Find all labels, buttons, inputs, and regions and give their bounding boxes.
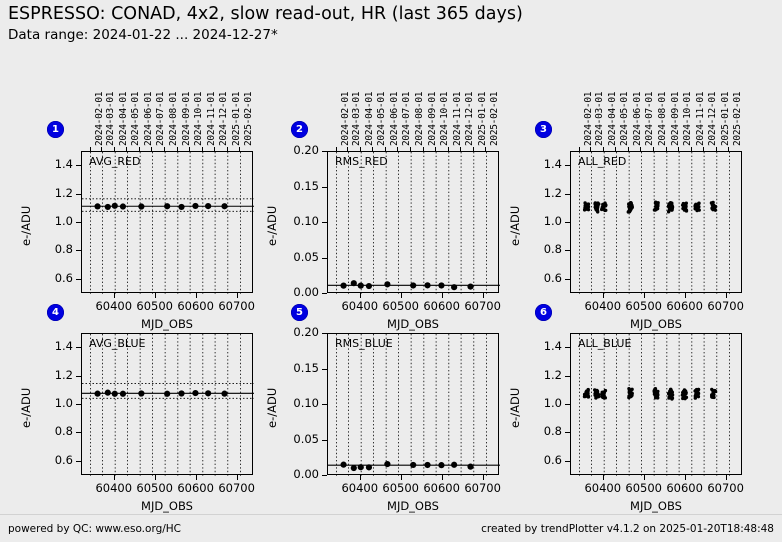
x-tick-mark: [237, 293, 238, 298]
plot-frame: ALL_BLUE: [570, 333, 742, 475]
x-tick-mark: [644, 293, 645, 298]
data-point: [628, 392, 631, 395]
x-tick-label: 60600: [412, 481, 472, 495]
date-tick-label: 2025-02-01: [489, 92, 500, 146]
data-point: [653, 208, 656, 211]
data-point: [670, 389, 673, 392]
data-point: [714, 390, 717, 393]
data-point: [711, 393, 714, 396]
panel-badge-1[interactable]: 1: [47, 121, 64, 138]
date-tick-mark: [423, 147, 424, 151]
data-point: [583, 204, 586, 207]
data-point: [712, 392, 715, 395]
x-tick-label: 60400: [84, 299, 144, 313]
data-point: [628, 391, 631, 394]
data-point: [586, 388, 589, 391]
data-point: [604, 389, 607, 392]
x-tick-mark: [360, 475, 361, 480]
data-point: [627, 387, 630, 390]
data-point: [596, 207, 599, 210]
data-point: [628, 389, 631, 392]
data-point: [711, 201, 714, 204]
data-point: [583, 393, 586, 396]
data-point: [695, 388, 698, 391]
data-point: [602, 393, 605, 396]
data-point: [631, 392, 634, 395]
x-axis-label: MJD_OBS: [327, 317, 499, 331]
data-point: [105, 390, 111, 396]
x-tick-label: 60500: [371, 299, 431, 313]
data-point: [594, 207, 597, 210]
data-point: [424, 462, 430, 468]
data-point: [630, 205, 633, 208]
data-point: [384, 281, 390, 287]
data-point: [684, 204, 687, 207]
y-tick-mark: [565, 432, 570, 433]
data-point: [653, 392, 656, 395]
x-tick-mark: [360, 293, 361, 298]
y-axis-label: e-/ADU: [19, 206, 33, 246]
data-point: [655, 206, 658, 209]
data-point: [670, 208, 673, 211]
date-tick-label: 2024-11-01: [695, 92, 706, 146]
data-point: [587, 208, 590, 211]
date-tick-mark: [202, 147, 203, 151]
y-tick-mark: [76, 279, 81, 280]
date-tick-label: 2024-04-01: [364, 92, 375, 146]
data-point: [685, 208, 688, 211]
data-point: [628, 210, 631, 213]
panel-badge-4[interactable]: 4: [47, 304, 64, 321]
date-tick-label: 2024-09-01: [427, 92, 438, 146]
data-point: [627, 205, 630, 208]
data-point: [596, 210, 599, 213]
y-tick-label: 0.05: [283, 250, 319, 264]
date-tick-mark: [666, 147, 667, 151]
data-point: [602, 390, 605, 393]
data-point: [712, 391, 715, 394]
data-point: [595, 205, 598, 208]
data-point: [629, 392, 632, 395]
data-point: [583, 208, 586, 211]
data-point: [697, 202, 700, 205]
y-tick-mark: [76, 404, 81, 405]
data-point: [366, 464, 372, 470]
data-point: [683, 389, 686, 392]
data-point: [654, 388, 657, 391]
data-point: [628, 207, 631, 210]
data-point: [601, 396, 604, 399]
data-point: [656, 394, 659, 397]
data-point: [594, 203, 597, 206]
data-point: [654, 201, 657, 204]
data-point: [712, 396, 715, 399]
data-point: [94, 203, 100, 209]
data-point: [594, 207, 597, 210]
footer-credit-right: created by trendPlotter v4.1.2 on 2025-0…: [481, 523, 774, 535]
date-tick-mark: [640, 147, 641, 151]
x-axis-label: MJD_OBS: [81, 317, 253, 331]
date-tick-label: 2024-10-01: [439, 92, 450, 146]
x-tick-label: 60500: [125, 481, 185, 495]
data-point: [597, 393, 600, 396]
data-point: [627, 394, 630, 397]
data-point: [695, 394, 698, 397]
date-tick-label: 2025-02-01: [732, 92, 743, 146]
data-point: [593, 202, 596, 205]
data-point: [595, 208, 598, 211]
data-point: [438, 282, 444, 288]
data-point: [714, 208, 717, 211]
x-tick-label: 60700: [696, 299, 756, 313]
plot-frame: ALL_RED: [570, 151, 742, 293]
data-point: [192, 203, 198, 209]
data-point: [629, 201, 632, 204]
data-point: [584, 203, 587, 206]
data-point: [351, 280, 357, 286]
y-tick-label: 1.0: [37, 214, 73, 228]
y-tick-label: 0.20: [283, 325, 319, 339]
data-point: [178, 390, 184, 396]
date-tick-label: 2025-02-01: [243, 92, 254, 146]
date-tick-mark: [615, 147, 616, 151]
date-tick-mark: [372, 147, 373, 151]
data-point: [221, 203, 227, 209]
date-tick-mark: [590, 147, 591, 151]
data-point: [668, 395, 671, 398]
x-tick-mark: [726, 293, 727, 298]
y-tick-label: 0.8: [37, 424, 73, 438]
y-tick-mark: [76, 250, 81, 251]
y-tick-label: 0.10: [283, 214, 319, 228]
x-tick-mark: [155, 293, 156, 298]
x-tick-label: 60500: [614, 481, 674, 495]
data-point: [654, 393, 657, 396]
plot-canvas: [328, 152, 500, 294]
data-point: [667, 210, 670, 213]
data-point: [596, 209, 599, 212]
data-point: [593, 388, 596, 391]
data-point: [601, 207, 604, 210]
data-point: [681, 207, 684, 210]
data-point: [358, 464, 364, 470]
data-point: [681, 203, 684, 206]
x-tick-label: 60400: [330, 299, 390, 313]
data-point: [120, 203, 126, 209]
data-point: [601, 203, 604, 206]
data-point: [351, 465, 357, 471]
y-tick-mark: [322, 404, 327, 405]
data-point: [629, 393, 632, 396]
data-point: [586, 391, 589, 394]
data-point: [683, 395, 686, 398]
data-point: [603, 390, 606, 393]
date-tick-label: 2025-01-01: [477, 92, 488, 146]
data-point: [694, 393, 697, 396]
data-point: [410, 282, 416, 288]
plot-series-label: AVG_RED: [89, 155, 140, 168]
y-tick-label: 1.4: [526, 157, 562, 171]
data-point: [712, 393, 715, 396]
data-point: [603, 202, 606, 205]
x-tick-mark: [685, 293, 686, 298]
x-tick-label: 60400: [573, 299, 633, 313]
data-point: [627, 203, 630, 206]
data-point: [656, 206, 659, 209]
data-point: [600, 208, 603, 211]
data-point: [586, 390, 589, 393]
date-tick-mark: [716, 147, 717, 151]
data-point: [656, 392, 659, 395]
data-point: [711, 203, 714, 206]
plot-panel-avg-red: 1AVG_RED0.60.81.01.21.460400605006060060…: [0, 0, 782, 542]
data-point: [628, 389, 631, 392]
data-point: [667, 204, 670, 207]
data-point: [604, 209, 607, 212]
data-point: [467, 284, 473, 290]
y-tick-label: 0.00: [283, 467, 319, 481]
data-point: [667, 202, 670, 205]
data-point: [630, 388, 633, 391]
data-point: [698, 208, 701, 211]
data-point: [593, 392, 596, 395]
data-point: [596, 394, 599, 397]
date-tick-label: 2024-10-01: [193, 92, 204, 146]
data-point: [667, 396, 670, 399]
date-tick-label: 2024-05-01: [130, 92, 141, 146]
data-point: [670, 397, 673, 400]
data-point: [694, 207, 697, 210]
data-point: [584, 204, 587, 207]
x-tick-mark: [155, 475, 156, 480]
data-point: [384, 461, 390, 467]
data-point: [696, 391, 699, 394]
data-point: [711, 206, 714, 209]
data-point: [654, 391, 657, 394]
date-tick-mark: [164, 147, 165, 151]
data-point: [710, 393, 713, 396]
y-tick-label: 0.00: [283, 285, 319, 299]
data-point: [596, 391, 599, 394]
data-point: [164, 203, 170, 209]
data-point: [683, 208, 686, 211]
date-tick-label: 2024-12-01: [464, 92, 475, 146]
y-axis-label: e-/ADU: [508, 388, 522, 428]
data-point: [594, 390, 597, 393]
data-point: [629, 395, 632, 398]
data-point: [669, 390, 672, 393]
x-tick-mark: [237, 475, 238, 480]
data-point: [594, 396, 597, 399]
plot-panel-rms-red: 2RMS_RED0.000.050.100.150.20604006050060…: [0, 0, 782, 542]
data-point: [595, 389, 598, 392]
x-tick-mark: [114, 475, 115, 480]
x-tick-mark: [196, 293, 197, 298]
data-point: [653, 391, 656, 394]
data-point: [694, 392, 697, 395]
data-point: [583, 393, 586, 396]
data-point: [654, 206, 657, 209]
data-point: [629, 204, 632, 207]
data-point: [628, 206, 631, 209]
data-point: [603, 204, 606, 207]
panel-badge-6[interactable]: 6: [535, 304, 552, 321]
y-tick-label: 0.8: [526, 424, 562, 438]
data-point: [682, 393, 685, 396]
y-tick-mark: [76, 376, 81, 377]
date-tick-mark: [336, 147, 337, 151]
date-tick-label: 2024-04-01: [607, 92, 618, 146]
data-point: [601, 206, 604, 209]
footer-divider: [0, 514, 782, 515]
x-tick-mark: [603, 475, 604, 480]
y-tick-mark: [565, 222, 570, 223]
x-tick-label: 60400: [84, 481, 144, 495]
data-point: [601, 394, 604, 397]
panel-badge-3[interactable]: 3: [535, 121, 552, 138]
data-point: [596, 389, 599, 392]
data-point: [629, 392, 632, 395]
data-point: [671, 391, 674, 394]
data-point: [693, 204, 696, 207]
y-tick-label: 1.2: [37, 186, 73, 200]
date-tick-mark: [101, 147, 102, 151]
data-point: [586, 203, 589, 206]
date-tick-label: 2024-07-01: [155, 92, 166, 146]
date-tick-label: 2024-03-01: [105, 92, 116, 146]
data-point: [711, 203, 714, 206]
x-tick-label: 60700: [207, 481, 267, 495]
y-tick-mark: [76, 222, 81, 223]
x-tick-label: 60400: [330, 481, 390, 495]
data-point: [602, 390, 605, 393]
y-tick-label: 1.0: [37, 396, 73, 410]
data-point: [600, 395, 603, 398]
x-tick-label: 60400: [573, 481, 633, 495]
data-point: [669, 388, 672, 391]
data-point: [192, 390, 198, 396]
date-tick-label: 2024-05-01: [376, 92, 387, 146]
data-point: [205, 390, 211, 396]
data-point: [684, 208, 687, 211]
data-point: [693, 389, 696, 392]
data-point: [670, 393, 673, 396]
date-tick-mark: [653, 147, 654, 151]
page-title: ESPRESSO: CONAD, 4x2, slow read-out, HR …: [8, 4, 523, 24]
data-point: [655, 205, 658, 208]
data-point: [628, 395, 631, 398]
data-point: [587, 202, 590, 205]
data-point: [697, 388, 700, 391]
date-tick-mark: [728, 147, 729, 151]
data-point: [710, 201, 713, 204]
data-point: [120, 391, 126, 397]
data-point: [697, 395, 700, 398]
data-point: [696, 394, 699, 397]
data-point: [584, 395, 587, 398]
date-tick-mark: [227, 147, 228, 151]
data-point: [669, 204, 672, 207]
data-point: [695, 394, 698, 397]
data-point: [710, 394, 713, 397]
x-tick-label: 60700: [453, 481, 513, 495]
data-point: [654, 208, 657, 211]
data-point: [138, 390, 144, 396]
data-point: [630, 206, 633, 209]
data-point: [597, 395, 600, 398]
data-point: [628, 389, 631, 392]
data-point: [710, 388, 713, 391]
panel-badge-2[interactable]: 2: [291, 121, 308, 138]
data-point: [597, 202, 600, 205]
data-point: [205, 203, 211, 209]
panel-badge-5[interactable]: 5: [291, 304, 308, 321]
x-tick-mark: [442, 475, 443, 480]
date-tick-label: 2024-08-01: [414, 92, 425, 146]
data-point: [601, 205, 604, 208]
data-point: [656, 390, 659, 393]
date-tick-label: 2024-03-01: [351, 92, 362, 146]
data-point: [684, 391, 687, 394]
data-point: [164, 391, 170, 397]
data-point: [596, 206, 599, 209]
y-tick-mark: [322, 475, 327, 476]
data-point: [596, 204, 599, 207]
date-tick-mark: [703, 147, 704, 151]
y-tick-label: 0.6: [526, 271, 562, 285]
x-tick-label: 60700: [207, 299, 267, 313]
data-point: [712, 205, 715, 208]
data-point: [684, 389, 687, 392]
data-point: [713, 208, 716, 211]
date-tick-mark: [691, 147, 692, 151]
data-point: [655, 394, 658, 397]
date-tick-mark: [397, 147, 398, 151]
data-point: [711, 395, 714, 398]
date-tick-mark: [189, 147, 190, 151]
data-point: [711, 205, 714, 208]
date-tick-label: 2024-09-01: [181, 92, 192, 146]
x-tick-label: 60500: [614, 299, 674, 313]
data-point: [682, 203, 685, 206]
data-point: [105, 204, 111, 210]
data-point: [596, 391, 599, 394]
data-point: [656, 204, 659, 207]
y-tick-label: 0.15: [283, 179, 319, 193]
x-tick-label: 60700: [453, 299, 513, 313]
date-tick-mark: [151, 147, 152, 151]
data-point: [602, 394, 605, 397]
x-tick-label: 60500: [371, 481, 431, 495]
date-tick-mark: [579, 147, 580, 151]
data-point: [656, 201, 659, 204]
plot-frame: AVG_RED: [81, 151, 253, 293]
date-tick-mark: [435, 147, 436, 151]
data-point: [629, 390, 632, 393]
x-tick-mark: [483, 475, 484, 480]
data-point: [694, 396, 697, 399]
x-tick-label: 60700: [696, 481, 756, 495]
data-point: [594, 205, 597, 208]
data-point: [654, 202, 657, 205]
x-axis-label: MJD_OBS: [570, 499, 742, 513]
data-point: [604, 204, 607, 207]
data-point: [112, 203, 118, 209]
data-point: [684, 392, 687, 395]
y-tick-mark: [565, 250, 570, 251]
data-point: [684, 207, 687, 210]
data-point: [668, 206, 671, 209]
